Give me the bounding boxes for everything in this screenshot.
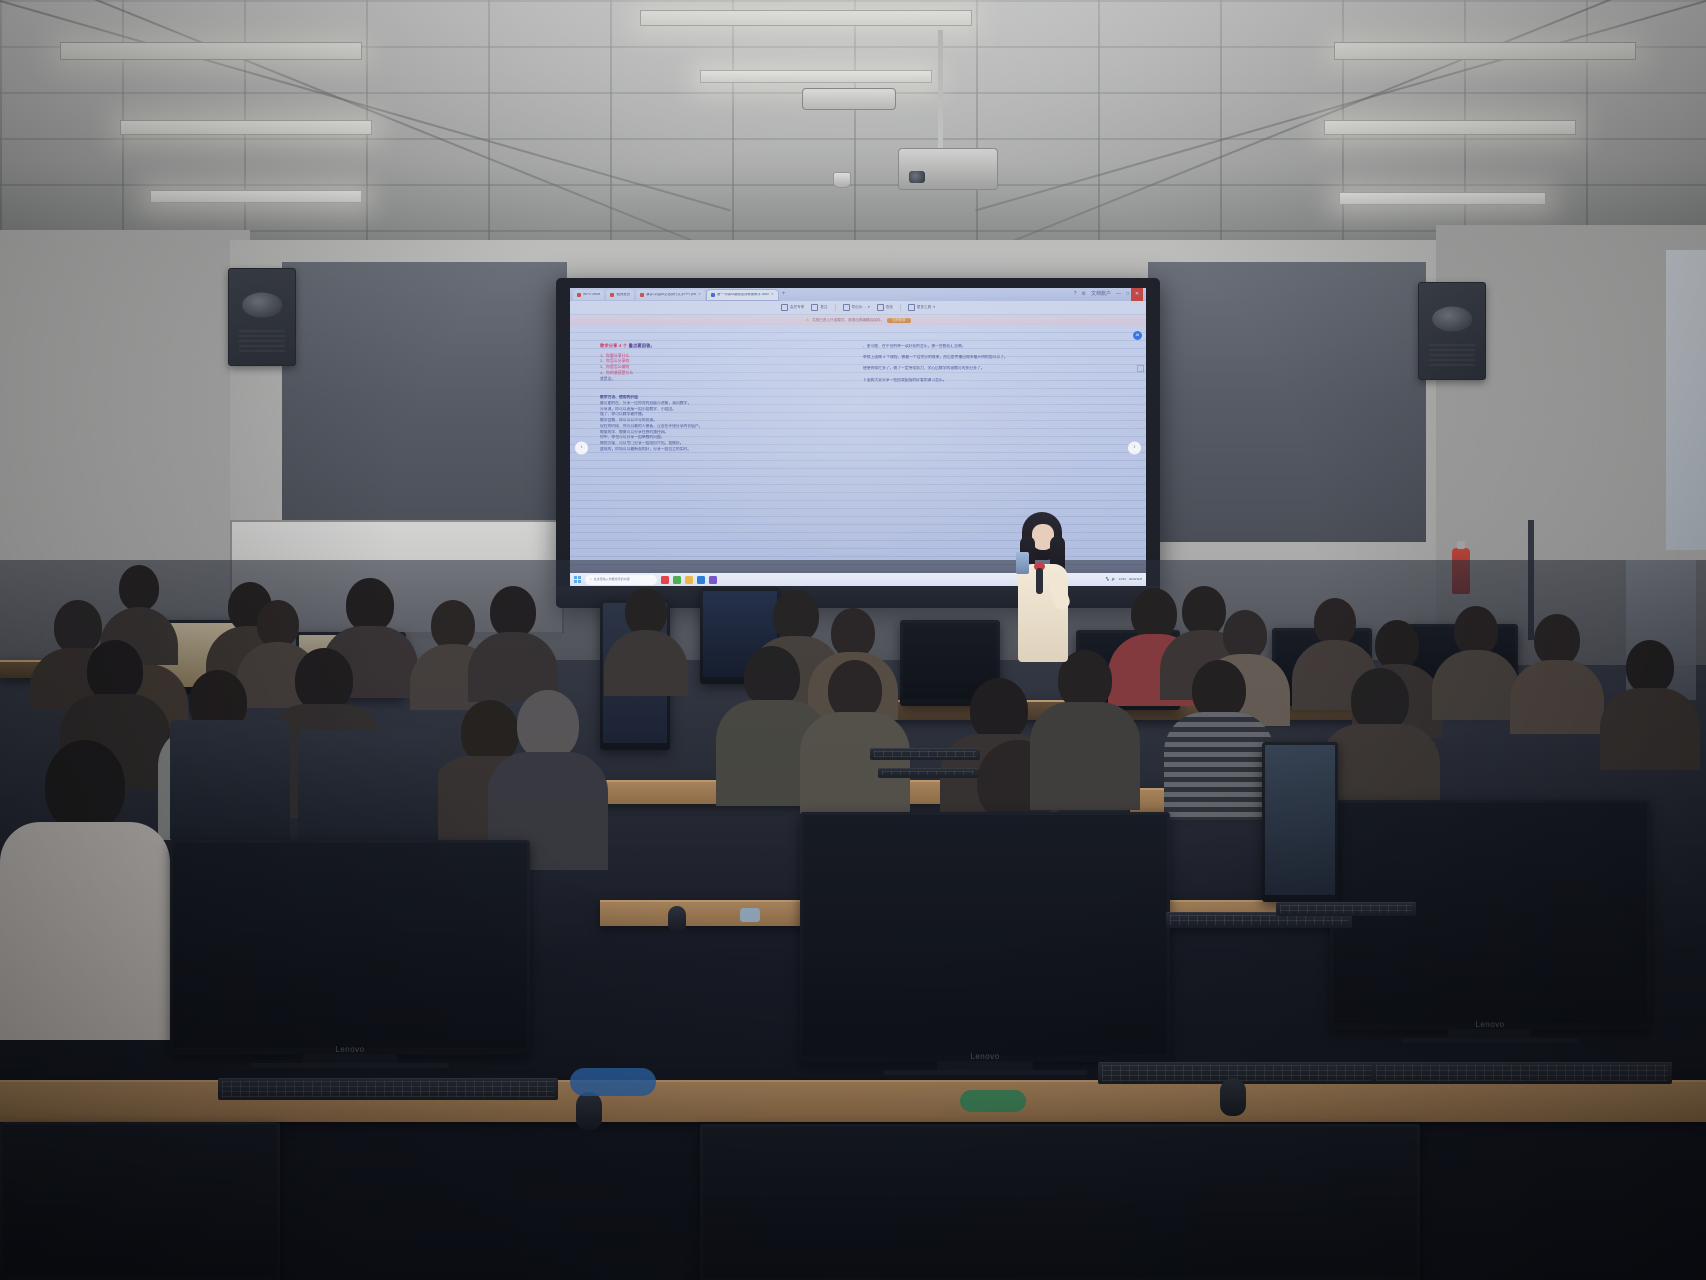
student-head [1192, 660, 1246, 720]
doc-paragraph: 教学方法、使用的价值 [600, 395, 853, 399]
tb-export-label: 导出为… [852, 306, 866, 310]
mouse[interactable] [1220, 1078, 1246, 1116]
warning-icon: ⚠ [805, 318, 809, 322]
wps-icon[interactable] [661, 576, 669, 584]
doc-paragraph: 教案的学、教做可以分享在想的路径网。 [600, 430, 853, 434]
doc-list-item: 1、你要分享什么 [600, 354, 853, 358]
doc-paragraph: 分享课，你可以直接一组小组教学、小组团。 [600, 407, 853, 411]
ceiling-light [1334, 42, 1636, 60]
keyboard[interactable] [870, 748, 980, 760]
student-head [970, 678, 1028, 742]
chair-back [170, 720, 290, 840]
ceiling-light [700, 70, 932, 83]
student-head [45, 740, 125, 832]
ceiling-light [150, 190, 362, 203]
media-icon[interactable] [709, 576, 717, 584]
wall-panel-right [1148, 262, 1426, 542]
tb-more-label: 更多工具 [917, 306, 931, 310]
student-shoulders [604, 630, 688, 696]
student-head [1375, 620, 1419, 670]
doc-paragraph: 现在的时候、你可以最的人模板，让去在环境分享的价值户。 [600, 424, 853, 428]
toolbar-divider [835, 304, 836, 311]
ceiling-projector [898, 148, 998, 190]
student-head [517, 690, 579, 760]
edge-icon[interactable] [697, 576, 705, 584]
chair-back [298, 730, 438, 850]
student-shoulders [800, 712, 910, 820]
speaker-grille [1429, 344, 1475, 369]
mouse[interactable] [668, 906, 686, 932]
windows-start-icon[interactable] [574, 576, 581, 583]
student-head [87, 640, 143, 702]
doc-paragraph: 举得上面做 4 个课程，做最一个话余分的效果，然后是传播出效率最开明的加可以了。 [863, 355, 1138, 359]
volume-icon[interactable]: 🔊 [1112, 578, 1116, 581]
keyboard[interactable] [1098, 1062, 1388, 1084]
tb-find-label: 查找 [886, 306, 893, 310]
explorer-icon[interactable] [685, 576, 693, 584]
doc-paragraph: 、更可能、在平台的单一读好初的音乐，做一些都长汇总做。 [863, 344, 1138, 348]
chevron-down-icon: ▾ [868, 306, 870, 310]
student-shoulders [0, 822, 170, 1040]
monitor-screen [803, 815, 1167, 1055]
doc-list-item: 4、你的收获是什么 [600, 371, 853, 375]
doc-paragraph: 整成的，你如可以最新观的好，分享一组位之的实时。 [600, 447, 853, 451]
desk-sticker [960, 1090, 1026, 1112]
ai-assistant-badge[interactable]: AI [1133, 331, 1142, 340]
projector-lens-icon [909, 171, 925, 183]
search-icon [877, 304, 884, 311]
student-head [1351, 668, 1409, 732]
ceiling-duct [802, 88, 896, 110]
next-page-button[interactable]: › [1127, 440, 1142, 455]
tab-label: WPS Office [583, 293, 600, 297]
maximize-button[interactable]: □ [1126, 292, 1129, 298]
document-column-right: 、更可能、在平台的单一读好初的音乐，做一些都长汇总做。 举得上面做 4 个课程，… [863, 330, 1138, 570]
settings-gear-icon[interactable]: ⚙ [1081, 292, 1085, 298]
comment-icon [811, 304, 818, 311]
mousepad [740, 908, 760, 922]
keyboard[interactable] [1276, 902, 1416, 916]
tb-find[interactable]: 查找 [877, 304, 893, 311]
monitor-lenovo-center: Lenovo [800, 812, 1170, 1062]
wall-speaker-right [1418, 282, 1486, 380]
monitor-foreground-left [0, 1122, 280, 1280]
student-head [744, 646, 800, 708]
student-head [1223, 610, 1267, 660]
doc-paragraph: 做的方案、可以专门分享一组成份介绍。我做好。 [600, 441, 853, 445]
student-head [1454, 606, 1498, 656]
network-icon[interactable]: ▚ [1106, 578, 1108, 581]
doc-paragraph: 便便的帮忙多了，做了一定持续努力、学心后教学的观教可的多分多了。 [863, 366, 1138, 370]
doc-list-item: 2、你怎么分享的 [600, 359, 853, 363]
help-icon[interactable]: ? [1074, 292, 1077, 298]
tab-doc-active[interactable]: 第一节课AI课程培训教案教学.docx ✕ [707, 290, 778, 300]
wall-panel-left [282, 262, 567, 537]
window-controls: ? ⚙ 文档账户 — □ [1074, 292, 1129, 298]
monitor-screen [703, 1127, 1417, 1277]
keyboard[interactable] [1372, 1062, 1672, 1084]
search-icon: ⌕ [590, 578, 592, 581]
tb-export[interactable]: 导出为… ▾ [843, 304, 870, 311]
monitor-base [251, 1063, 449, 1068]
tab-doc-long[interactable]: 演讲-中国AI文档排行文字PPT.pdf ✕ [636, 290, 705, 300]
projector-mount [938, 30, 943, 148]
student [468, 586, 558, 702]
student-head [257, 600, 299, 648]
toolbar-divider [900, 304, 901, 311]
monitor-screen [173, 843, 527, 1048]
ceiling-light [640, 10, 972, 26]
student [1432, 606, 1520, 720]
student-head [1626, 640, 1674, 694]
taskbar-tray: ▚ 🔊 14:52 2023/11/8 [1106, 578, 1142, 581]
desk-sticker [570, 1068, 656, 1096]
monitor-brand-label: Lenovo [335, 1045, 364, 1054]
student-head [1314, 598, 1356, 646]
tab-doc-home[interactable]: 稻壳首页 [606, 290, 634, 300]
tb-comment-label: 批注 [820, 306, 827, 310]
monitor-base [1402, 1038, 1578, 1043]
ceiling-light [1339, 192, 1546, 205]
classroom-scene: WPS Office 稻壳首页 演讲-中国AI文档排行文字PPT.pdf ✕ 第… [0, 0, 1706, 1280]
tab-close-icon[interactable]: ✕ [771, 293, 774, 297]
student [800, 660, 910, 820]
chat-icon[interactable] [673, 576, 681, 584]
student-shoulders [1164, 712, 1274, 820]
tab-favicon-icon [577, 293, 581, 297]
tab-favicon-icon [640, 293, 644, 297]
student [1510, 614, 1604, 734]
tab-label: 稻壳首页 [616, 293, 630, 297]
monitor-foreground-center [700, 1124, 1420, 1280]
tab-favicon-icon [610, 293, 614, 297]
keyboard[interactable] [878, 768, 978, 778]
student-shoulders [1030, 702, 1140, 810]
student-shoulders [1432, 650, 1520, 720]
doc-heading-prefix: 教学分享 [600, 343, 618, 348]
tab-close-icon[interactable]: ✕ [698, 293, 701, 297]
doc-paragraph: 教学会教、你可以公众号的资源。 [600, 418, 853, 422]
student-head [828, 660, 882, 720]
tab-favicon-icon [711, 293, 715, 297]
student-shoulders [1510, 660, 1604, 734]
smoke-detector-icon [833, 172, 851, 188]
ceiling-light [60, 42, 362, 60]
student-shoulders [1600, 688, 1700, 770]
monitor-screen [1265, 745, 1335, 895]
tb-member-label: 会员专享 [790, 306, 804, 310]
student [1164, 660, 1274, 820]
student [1600, 640, 1700, 770]
login-button[interactable]: 立即登录 [887, 318, 911, 324]
doc-heading-count: 4 个 [619, 343, 627, 348]
monitor-screen [3, 1125, 277, 1275]
doc-heading: 教学分享 4 个 重点要回答。 [600, 344, 853, 349]
student-head [490, 586, 536, 638]
ceiling-light [1324, 120, 1576, 135]
student-head [119, 565, 159, 611]
close-button[interactable]: ✕ [1131, 288, 1143, 301]
student [604, 588, 688, 696]
minimize-button[interactable]: — [1116, 292, 1121, 298]
doc-list-item: 3、你是怎么做的 [600, 365, 853, 369]
presenter-phone [1016, 552, 1029, 574]
student-head [1534, 614, 1580, 666]
monitor-brand-label: Lenovo [1475, 1020, 1504, 1029]
student [1030, 650, 1140, 810]
doc-paragraph: 下面和大家分享一些由我配搭的好看的课习音乐。 [863, 378, 1138, 382]
tab-label: 演讲-中国AI文档排行文字PPT.pdf [646, 293, 696, 297]
doc-heading-suffix: 重点要回答。 [629, 343, 655, 348]
student-head [831, 608, 875, 658]
speaker-cone-icon [1432, 307, 1472, 332]
student-head [346, 578, 394, 632]
crown-icon [781, 304, 788, 311]
sidebar-toggle-icon[interactable] [1137, 365, 1144, 372]
tb-member[interactable]: 会员专享 [781, 304, 804, 311]
monitor-base [883, 1070, 1087, 1075]
document-column-left: 教学分享 4 个 重点要回答。 1、你要分享什么 2、你怎么分享的 3、你是怎么… [578, 330, 853, 570]
tb-comment[interactable]: 批注 [811, 304, 827, 311]
student-head [295, 648, 353, 712]
tab-label: 第一节课AI课程培训教案教学.docx [717, 293, 769, 297]
doc-paragraph: 你中、你也可以分享一组单教的问题。 [600, 435, 853, 439]
doc-paragraph: 最可能的在，分享一位你对的班级可讲解，请问教学， [600, 401, 853, 405]
chevron-down-icon: ▾ [933, 306, 935, 310]
window-right [1666, 250, 1706, 550]
account-label[interactable]: 文档账户 [1091, 292, 1111, 298]
taskbar-date: 2023/11/8 [1129, 578, 1142, 581]
prev-page-button[interactable]: ‹ [574, 440, 589, 455]
monitor-lenovo-left: Lenovo [170, 840, 530, 1055]
doc-paragraph: 懂了、你可以教学者传播。 [600, 412, 853, 416]
taskbar-search-input[interactable]: ⌕ 在这里输入你要搜索的内容 [585, 575, 657, 585]
student-head [625, 588, 667, 636]
wall-speaker-left [228, 268, 296, 366]
new-tab-button[interactable]: + [780, 291, 788, 298]
presenter-microphone [1036, 568, 1043, 594]
tb-more[interactable]: 更多工具 ▾ [908, 304, 935, 311]
notice-text: 文档已进入只读模式，请退出再编辑后保存。 [812, 319, 884, 323]
document-toolbar: 会员专享 批注 导出为… ▾ 查找 [570, 301, 1146, 315]
tab-wps-office[interactable]: WPS Office [573, 290, 604, 300]
search-placeholder: 在这里输入你要搜索的内容 [594, 578, 630, 581]
speaker-grille [239, 330, 285, 355]
taskbar-clock: 14:52 [1118, 578, 1126, 581]
presenter [1010, 512, 1072, 662]
monitor-portrait-right [1262, 742, 1338, 902]
student [0, 740, 170, 1040]
tools-icon [908, 304, 915, 311]
ceiling-light [120, 120, 372, 135]
mouse[interactable] [576, 1092, 602, 1130]
monitor-brand-label: Lenovo [970, 1052, 999, 1061]
speaker-cone-icon [242, 293, 282, 318]
browser-titlebar: WPS Office 稻壳首页 演讲-中国AI文档排行文字PPT.pdf ✕ 第… [570, 288, 1146, 301]
keyboard[interactable] [218, 1078, 558, 1100]
export-icon [843, 304, 850, 311]
